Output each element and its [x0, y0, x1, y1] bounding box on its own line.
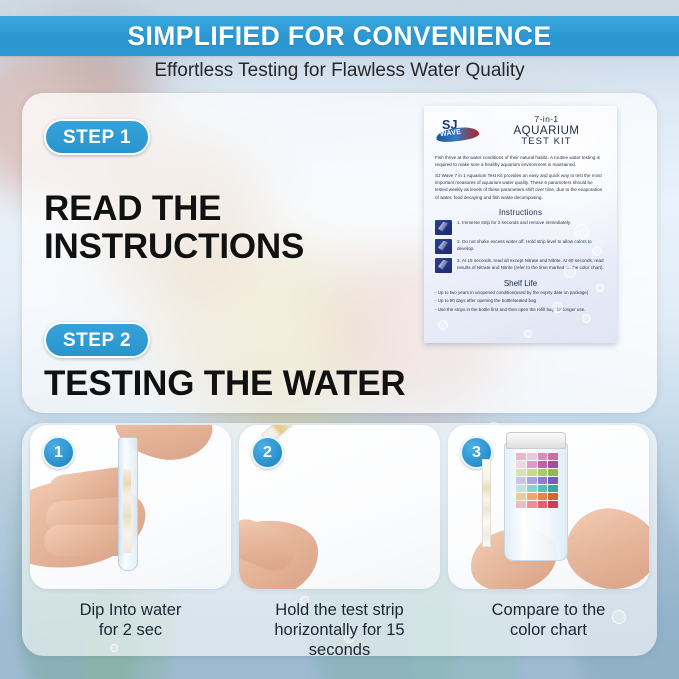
page-subtitle: Effortless Testing for Flawless Water Qu…: [0, 60, 679, 83]
color-swatch: [516, 493, 526, 500]
test-strip-bottle-icon: [504, 441, 568, 561]
step-badge-1: STEP 1: [44, 119, 150, 155]
color-swatch: [516, 501, 526, 508]
color-swatch: [516, 477, 526, 484]
color-swatch: [538, 493, 548, 500]
color-swatch: [538, 469, 548, 476]
card-paragraph-2: SJ Wave 7 in 1 Aquarium Test Kit provide…: [435, 172, 606, 200]
immerse-strip-icon: [435, 220, 452, 235]
color-swatch: [548, 469, 558, 476]
color-swatch: [516, 453, 526, 460]
card-title-line-1: 7-in-1: [487, 115, 606, 125]
list-item: 1. Immerse strip for 2 seconds and remov…: [435, 220, 606, 235]
bottle-cap-icon: [506, 432, 566, 449]
color-swatch: [527, 469, 537, 476]
card-instruction-list: 1. Immerse strip for 2 seconds and remov…: [435, 220, 606, 273]
color-swatch: [548, 485, 558, 492]
color-swatch: [516, 485, 526, 492]
step-1-image: 1: [30, 425, 231, 589]
step-number-badge-1: 1: [42, 436, 75, 469]
card-shelf-life-title: Shelf Life: [435, 279, 606, 288]
list-item: 3. At 15 seconds, read all except Nitrat…: [435, 258, 606, 273]
color-swatch: [548, 501, 558, 508]
step-1-caption: Dip Into water for 2 sec: [30, 600, 231, 640]
color-chart: [516, 453, 558, 508]
step-3-image: 3: [448, 425, 649, 589]
test-strip-icon: [482, 459, 491, 547]
color-swatch: [527, 485, 537, 492]
hold-level-icon: [435, 239, 452, 254]
step-2-image: 2: [239, 425, 440, 589]
color-swatch: [538, 477, 548, 484]
header-banner: SIMPLIFIED FOR CONVENIENCE: [0, 16, 679, 56]
step-badge-2: STEP 2: [44, 322, 150, 358]
list-item: - Use the strips in the bottle first and…: [435, 307, 606, 314]
bubble-icon: [582, 314, 591, 323]
card-title: 7-in-1 AQUARIUM TEST KIT: [487, 115, 606, 148]
card-title-line-3: TEST KIT: [487, 137, 606, 148]
color-swatch: [538, 485, 548, 492]
page-title: SIMPLIFIED FOR CONVENIENCE: [127, 23, 551, 50]
color-swatch: [516, 469, 526, 476]
color-swatch: [548, 493, 558, 500]
list-item: - Up to two years in unopened condition(…: [435, 290, 606, 297]
color-swatch: [538, 453, 548, 460]
step-tile-3: 3 Compare to the color chart: [448, 425, 649, 665]
color-swatch: [527, 453, 537, 460]
list-item: - Up to 90 days after opening the bottle…: [435, 298, 606, 305]
bubble-icon: [524, 330, 532, 338]
test-strip-icon: [123, 469, 131, 553]
color-swatch: [548, 453, 558, 460]
list-item: 2. Do not shake excess water off. Hold s…: [435, 239, 606, 254]
instruction-text: 2. Do not shake excess water off. Hold s…: [457, 239, 606, 253]
test-kit-instruction-card: SJ WAVE 7-in-1 AQUARIUM TEST KIT Fish th…: [424, 106, 617, 343]
color-swatch: [516, 461, 526, 468]
color-swatch: [538, 461, 548, 468]
step-2-caption: Hold the test strip horizontally for 15 …: [239, 600, 440, 660]
card-shelf-life-list: - Up to two years in unopened condition(…: [435, 290, 606, 314]
bubble-icon: [438, 320, 448, 330]
color-swatch: [548, 477, 558, 484]
step-tile-1: 1 Dip Into water for 2 sec: [30, 425, 231, 665]
color-swatch: [527, 501, 537, 508]
step-number-badge-2: 2: [251, 436, 284, 469]
card-header: SJ WAVE 7-in-1 AQUARIUM TEST KIT: [435, 115, 606, 148]
color-swatch: [548, 461, 558, 468]
step-3-caption: Compare to the color chart: [448, 600, 649, 640]
product-infographic: SIMPLIFIED FOR CONVENIENCE Effortless Te…: [0, 0, 679, 679]
hand-illustration: [560, 502, 649, 589]
card-paragraph-1: Fish thrive at the water conditions of t…: [435, 154, 606, 168]
color-swatch: [527, 461, 537, 468]
step-1-headline: READ THE INSTRUCTIONS: [44, 190, 304, 266]
read-results-icon: [435, 258, 452, 273]
card-instructions-title: Instructions: [435, 208, 606, 217]
instruction-text: 1. Immerse strip for 2 seconds and remov…: [457, 220, 571, 227]
color-swatch: [527, 477, 537, 484]
sj-wave-logo-icon: SJ WAVE: [435, 119, 481, 145]
color-swatch: [527, 493, 537, 500]
step-2-headline: TESTING THE WATER: [44, 365, 406, 403]
color-swatch: [538, 501, 548, 508]
testing-steps-tiles: 1 Dip Into water for 2 sec 2 Hold the te…: [22, 425, 657, 665]
step-tile-2: 2 Hold the test strip horizontally for 1…: [239, 425, 440, 665]
instruction-text: 3. At 15 seconds, read all except Nitrat…: [457, 258, 606, 272]
